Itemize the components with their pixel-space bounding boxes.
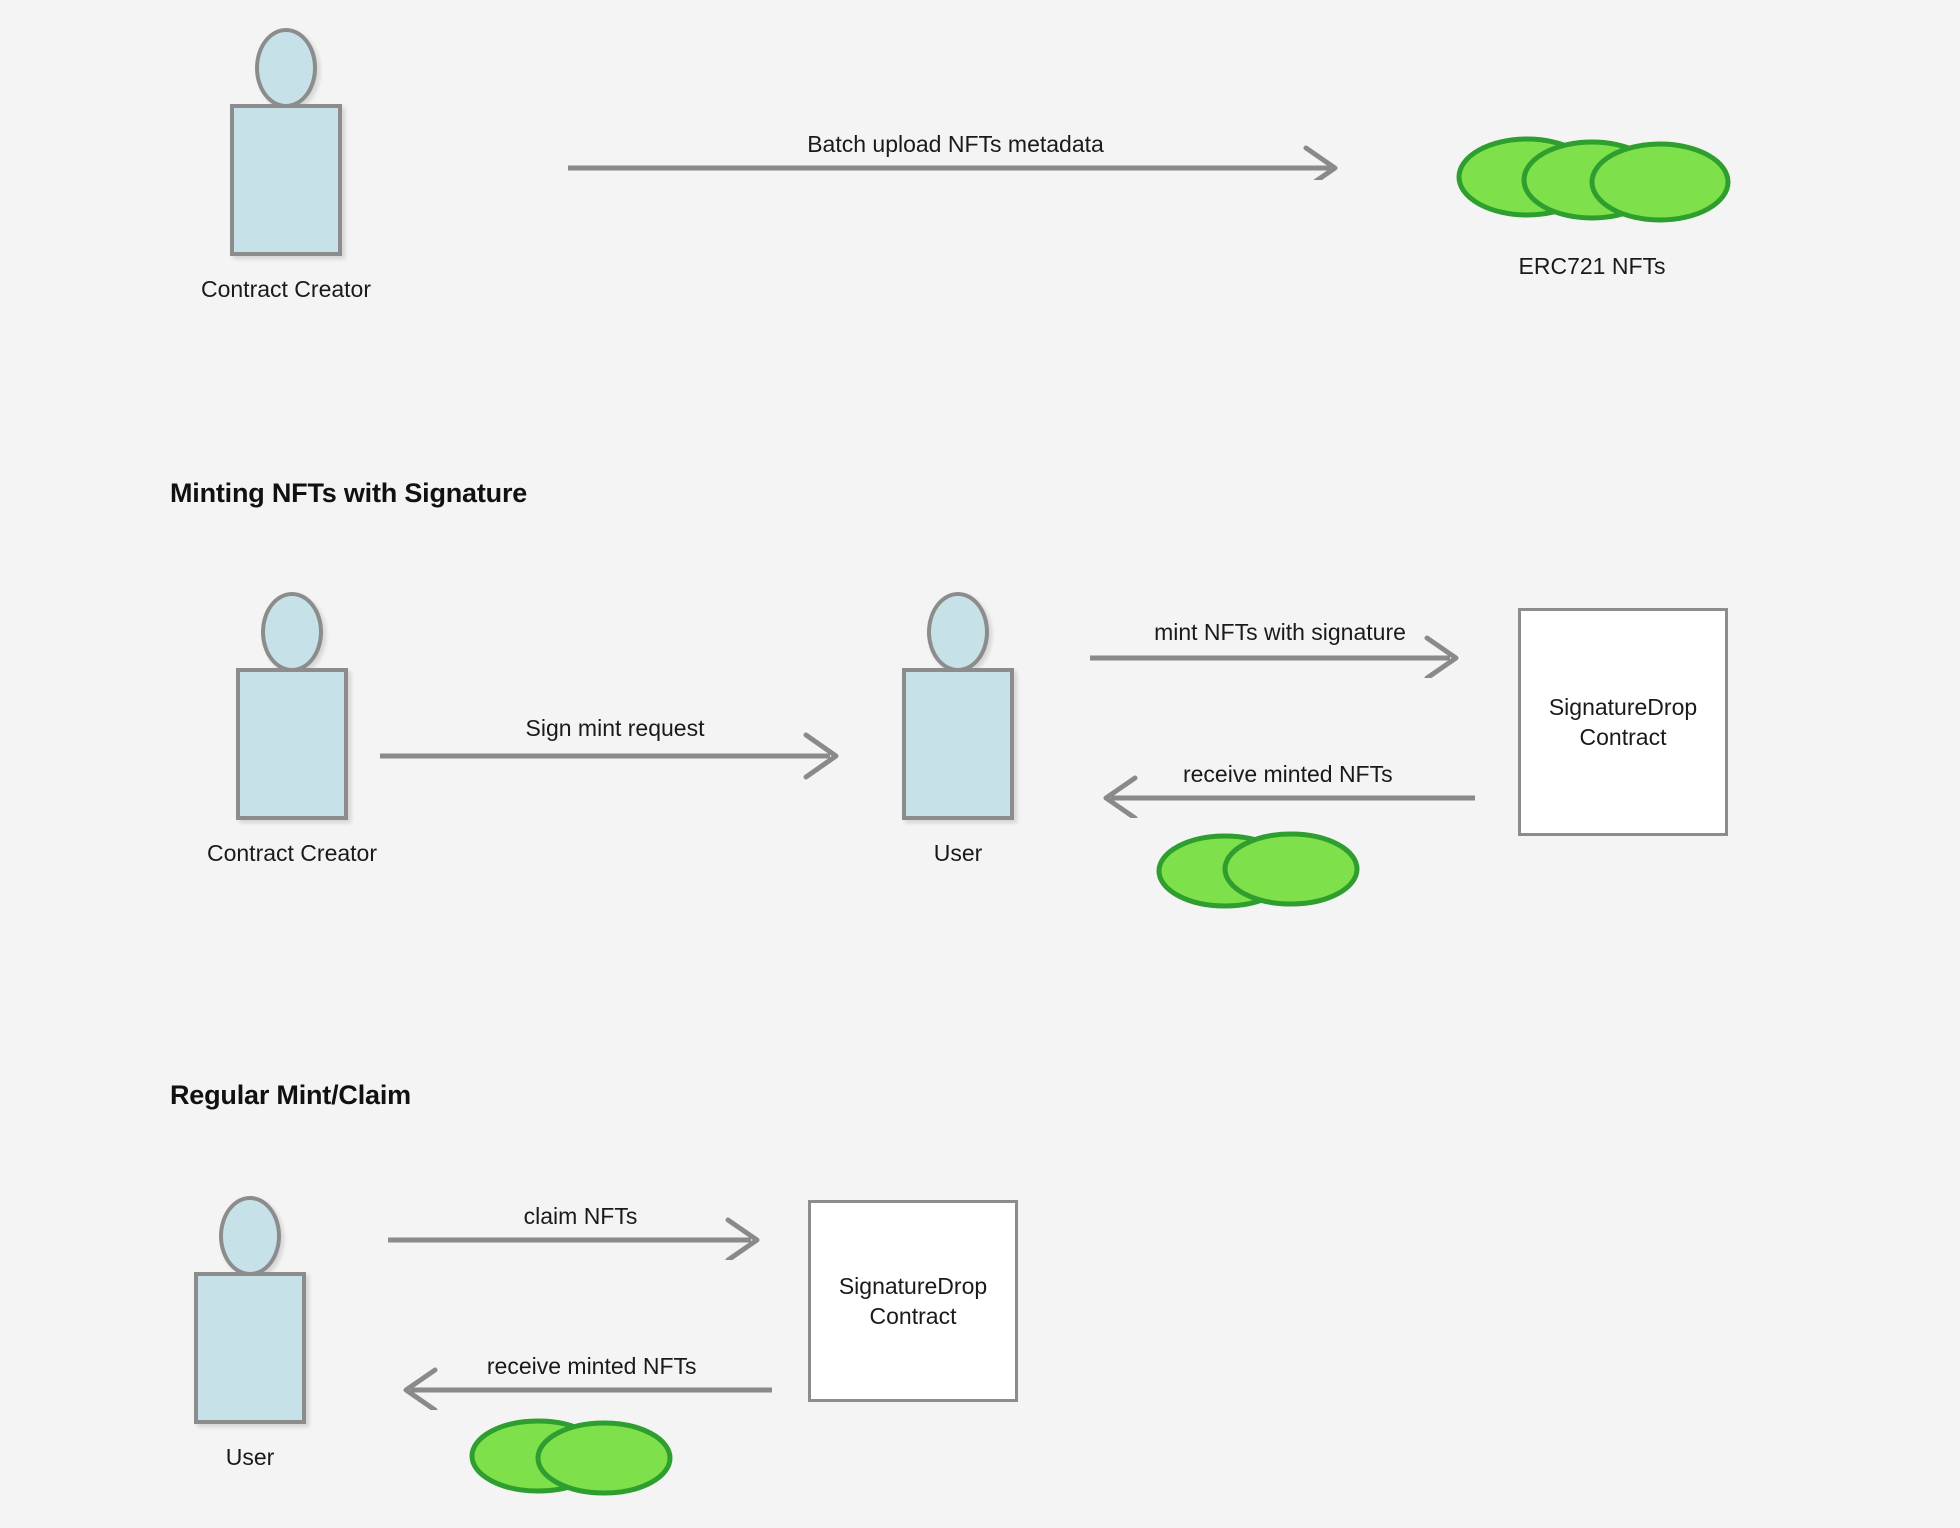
actor-contract-creator-mid: Contract Creator (222, 592, 362, 882)
arrow-label: mint NFTs with signature (1154, 619, 1406, 646)
arrow-label: receive minted NFTs (1183, 761, 1393, 788)
box-label-line1: SignatureDrop (839, 1271, 987, 1301)
nft-cluster-minted-bottom (468, 1410, 678, 1500)
actor-user-mid: User (888, 592, 1028, 882)
actor-label: User (226, 1444, 275, 1471)
box-signaturedrop-contract-mid: SignatureDrop Contract (1518, 608, 1728, 836)
nft-ellipses-icon (468, 1410, 678, 1500)
box-signaturedrop-contract-bottom: SignatureDrop Contract (808, 1200, 1018, 1402)
nft-ellipses-icon (1155, 825, 1365, 915)
actor-label: User (934, 840, 983, 867)
arrow-label: claim NFTs (524, 1203, 638, 1230)
actor-head-icon (219, 1196, 281, 1276)
diagram-canvas: Contract Creator Batch upload NFTs metad… (0, 0, 1960, 1528)
arrow-label: receive minted NFTs (487, 1353, 697, 1380)
box-label-line2: Contract (839, 1301, 987, 1331)
arrow-sign-mint-request: Sign mint request (380, 690, 850, 790)
nft-cluster-label: ERC721 NFTs (1519, 253, 1666, 280)
arrow-label: Sign mint request (526, 715, 705, 742)
nft-cluster-minted-mid (1155, 825, 1365, 915)
arrow-label: Batch upload NFTs metadata (807, 131, 1104, 158)
actor-body-icon (194, 1272, 306, 1424)
actor-label: Contract Creator (201, 276, 371, 303)
actor-label: Contract Creator (207, 840, 377, 867)
actor-contract-creator-top: Contract Creator (216, 28, 356, 318)
actor-body-icon (902, 668, 1014, 820)
actor-body-icon (236, 668, 348, 820)
arrow-receive-minted-nfts-bottom: receive minted NFTs (385, 1340, 775, 1410)
actor-head-icon (261, 592, 323, 672)
actor-body-icon (230, 104, 342, 256)
nft-ellipses-icon (1452, 125, 1732, 235)
arrow-mint-nfts-with-signature: mint NFTs with signature (1090, 608, 1470, 678)
nft-cluster-erc721: ERC721 NFTs (1452, 125, 1732, 285)
arrow-claim-nfts: claim NFTs (388, 1190, 773, 1260)
actor-user-bottom: User (180, 1196, 320, 1486)
box-label-line2: Contract (1549, 722, 1697, 752)
box-label: SignatureDrop Contract (1549, 692, 1697, 753)
box-label: SignatureDrop Contract (839, 1271, 987, 1332)
actor-head-icon (255, 28, 317, 108)
box-label-line1: SignatureDrop (1549, 692, 1697, 722)
section-heading-minting-with-signature: Minting NFTs with Signature (170, 478, 527, 509)
section-heading-regular-mint-claim: Regular Mint/Claim (170, 1080, 411, 1111)
actor-head-icon (927, 592, 989, 672)
arrow-batch-upload: Batch upload NFTs metadata (568, 120, 1343, 180)
arrow-receive-minted-nfts-mid: receive minted NFTs (1085, 748, 1475, 818)
